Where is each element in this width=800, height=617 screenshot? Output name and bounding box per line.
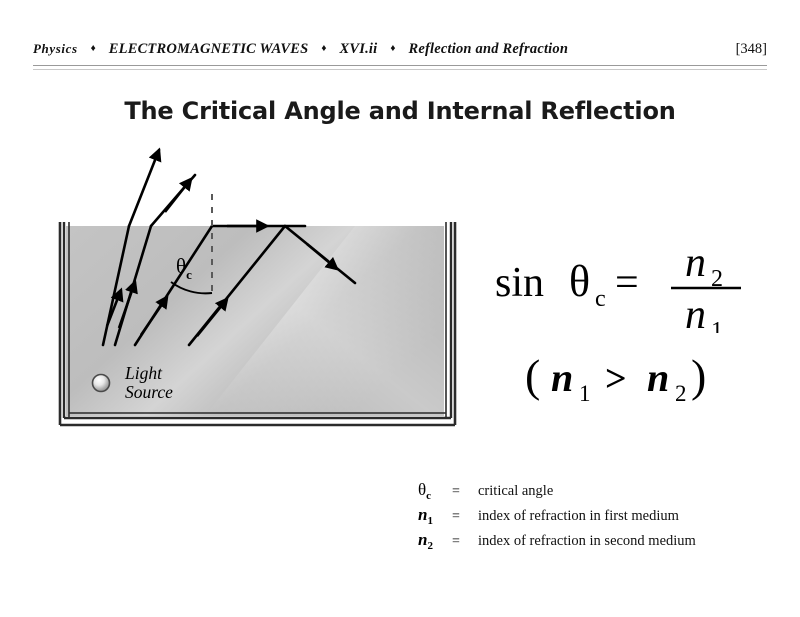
formula-equals: = [615,260,639,306]
diamond-separator-icon: ♦ [390,44,395,54]
condition-operator: > [605,358,627,400]
light-source-bulb-icon [93,375,110,392]
legend-row: n2 = index of refraction in second mediu… [418,530,768,555]
light-source-label-line2: Source [125,382,173,402]
condition-left-symbol: n [551,355,573,400]
formula-theta-subscript: c [595,286,606,312]
symbol-legend: θc = critical angle n1 = index of refrac… [418,480,768,555]
index-condition-formula: ( n 1 > n 2 ) [495,347,785,407]
legend-equals: = [452,509,478,525]
formula-numerator: n [685,240,706,286]
condition-right-symbol: n [647,355,669,400]
page-number: [348] [736,41,767,58]
legend-description: critical angle [478,483,553,500]
formula-theta: θ [569,257,590,306]
header-segment-subject: Physics [33,41,78,57]
legend-symbol: n2 [418,530,452,552]
condition-open-paren: ( [525,350,540,401]
condition-right-subscript: 2 [675,381,687,406]
formula-sin: sin [495,260,544,306]
light-source-label-line1: Light [124,363,163,383]
legend-description: index of refraction in second medium [478,533,696,550]
legend-row: n1 = index of refraction in first medium [418,505,768,530]
critical-angle-formula: sin θ c = n 2 n 1 [495,238,785,333]
header-segment-unit: ELECTROMAGNETIC WAVES [109,41,309,58]
page-header: Physics ♦ ELECTROMAGNETIC WAVES ♦ XVI.ii… [33,41,767,65]
condition-left-subscript: 1 [579,381,591,406]
legend-description: index of refraction in first medium [478,508,679,525]
legend-symbol: θc [418,480,452,502]
header-divider [33,65,767,70]
legend-equals: = [452,534,478,550]
legend-symbol: n1 [418,505,452,527]
critical-angle-diagram: θc Light Source [55,130,475,440]
legend-row: θc = critical angle [418,480,768,505]
condition-close-paren: ) [691,350,706,401]
ray-2-arrow-upper [165,179,191,212]
legend-equals: = [452,484,478,500]
formula-denominator-subscript: 1 [711,318,723,333]
formula-denominator: n [685,292,706,333]
header-segment-section: XVI.ii [339,41,377,58]
diamond-separator-icon: ♦ [91,44,96,54]
page-title: The Critical Angle and Internal Reflecti… [0,97,800,125]
diamond-separator-icon: ♦ [321,44,326,54]
header-segment-topic: Reflection and Refraction [408,41,568,58]
